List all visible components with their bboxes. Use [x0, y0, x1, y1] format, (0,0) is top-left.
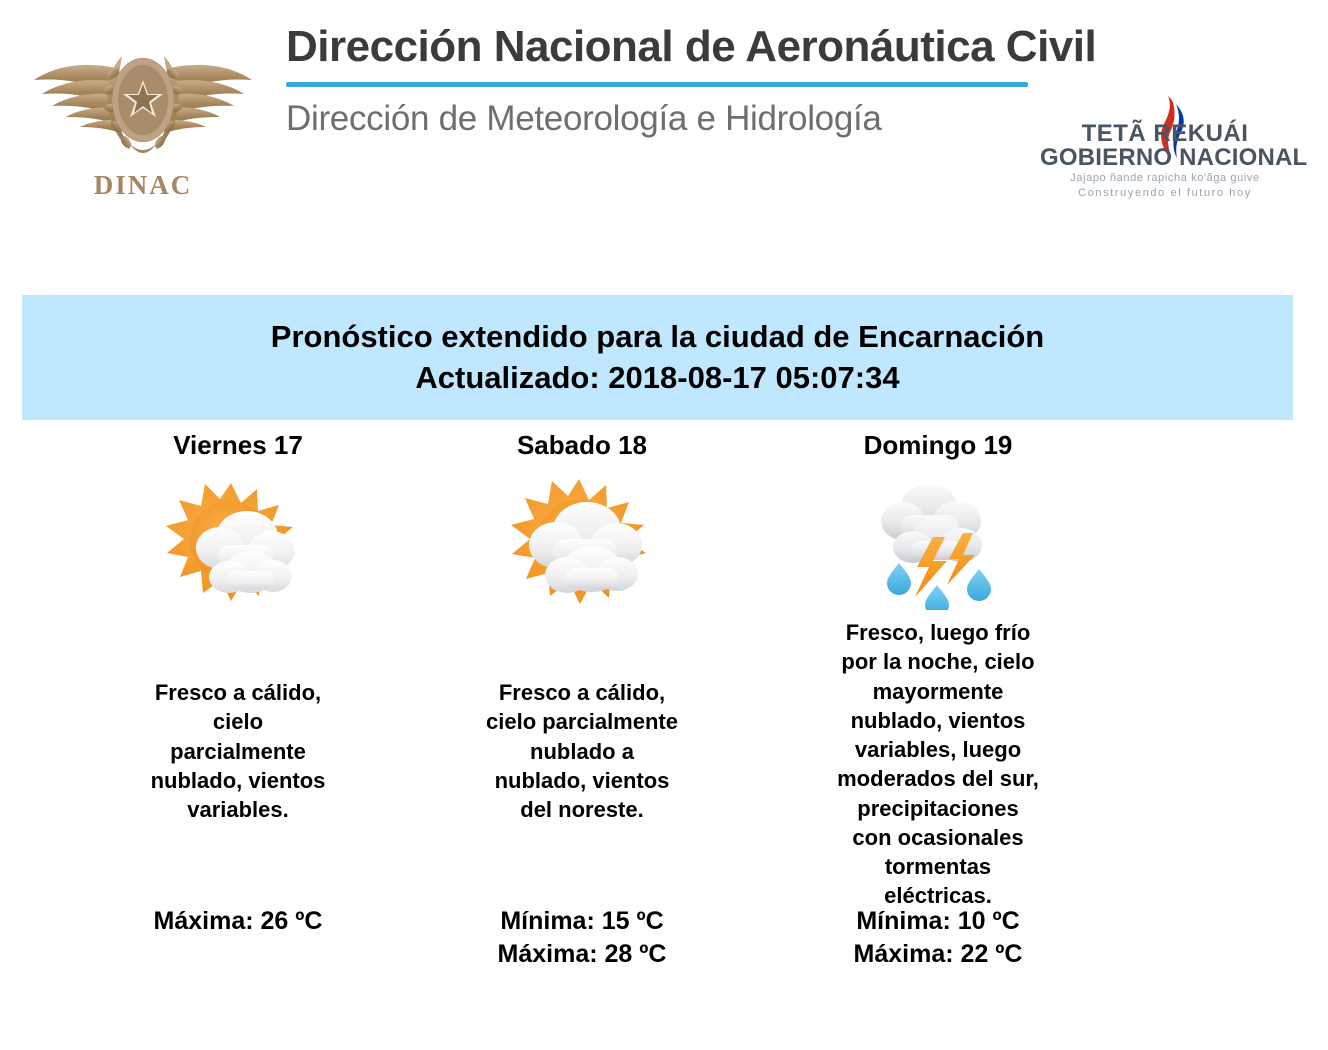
day-name: Sabado 18: [437, 430, 727, 461]
day-temperatures: Mínima: 10 ºC Máxima: 22 ºC: [793, 905, 1083, 972]
government-tagline-guarani: Jajapo ñande rapicha ko'ãga guive: [1040, 172, 1290, 184]
thunderstorm-rain-icon: [793, 475, 1083, 615]
temp-min: Mínima: 10 ºC: [793, 905, 1083, 938]
forecast-day-column: Sabado 18: [437, 430, 727, 615]
temp-max: Máxima: 28 ºC: [437, 938, 727, 971]
forecast-columns: Viernes 17: [0, 430, 1328, 1030]
banner-title: Pronóstico extendido para la ciudad de E…: [271, 317, 1044, 358]
page-subtitle: Dirección de Meteorología e Hidrología: [286, 99, 1086, 139]
header-title-block: Dirección Nacional de Aeronáutica Civil …: [286, 24, 1086, 139]
day-temperatures: Mínima: 15 ºC Máxima: 28 ºC: [437, 905, 727, 972]
day-description: Fresco a cálido, cielo parcialmente nubl…: [437, 678, 727, 824]
temp-max: Máxima: 26 ºC: [93, 905, 383, 938]
day-description: Fresco, luego frío por la noche, cielo m…: [793, 618, 1083, 911]
government-tagline-spanish: Construyendo el futuro hoy: [1040, 187, 1290, 199]
page-title: Dirección Nacional de Aeronáutica Civil: [286, 24, 1086, 70]
mostly-cloudy-sun-icon: [437, 475, 727, 615]
day-temperatures: Máxima: 26 ºC: [93, 905, 383, 938]
forecast-day-column: Viernes 17: [93, 430, 383, 615]
forecast-day-column: Domingo 19: [793, 430, 1083, 615]
day-name: Domingo 19: [793, 430, 1083, 461]
banner-updated: Actualizado: 2018-08-17 05:07:34: [415, 358, 899, 399]
dinac-abbrev-text: DINAC: [18, 170, 268, 201]
winged-emblem-icon: [18, 22, 268, 172]
dinac-logo: DINAC: [18, 22, 268, 197]
day-description: Fresco a cálido, cielo parcialmente nubl…: [93, 678, 383, 824]
day-name: Viernes 17: [93, 430, 383, 461]
temp-max: Máxima: 22 ºC: [793, 938, 1083, 971]
government-logo-line2: GOBIERNO NACIONAL: [1040, 144, 1290, 172]
temp-min: Mínima: 15 ºC: [437, 905, 727, 938]
government-logo: TETÃ REKUÁI GOBIERNO NACIONAL Jajapo ñan…: [1040, 96, 1290, 206]
forecast-banner: Pronóstico extendido para la ciudad de E…: [22, 295, 1293, 420]
title-divider: [286, 82, 1028, 87]
page-header: DINAC Dirección Nacional de Aeronáutica …: [0, 0, 1328, 280]
partly-cloudy-icon: [93, 475, 383, 615]
